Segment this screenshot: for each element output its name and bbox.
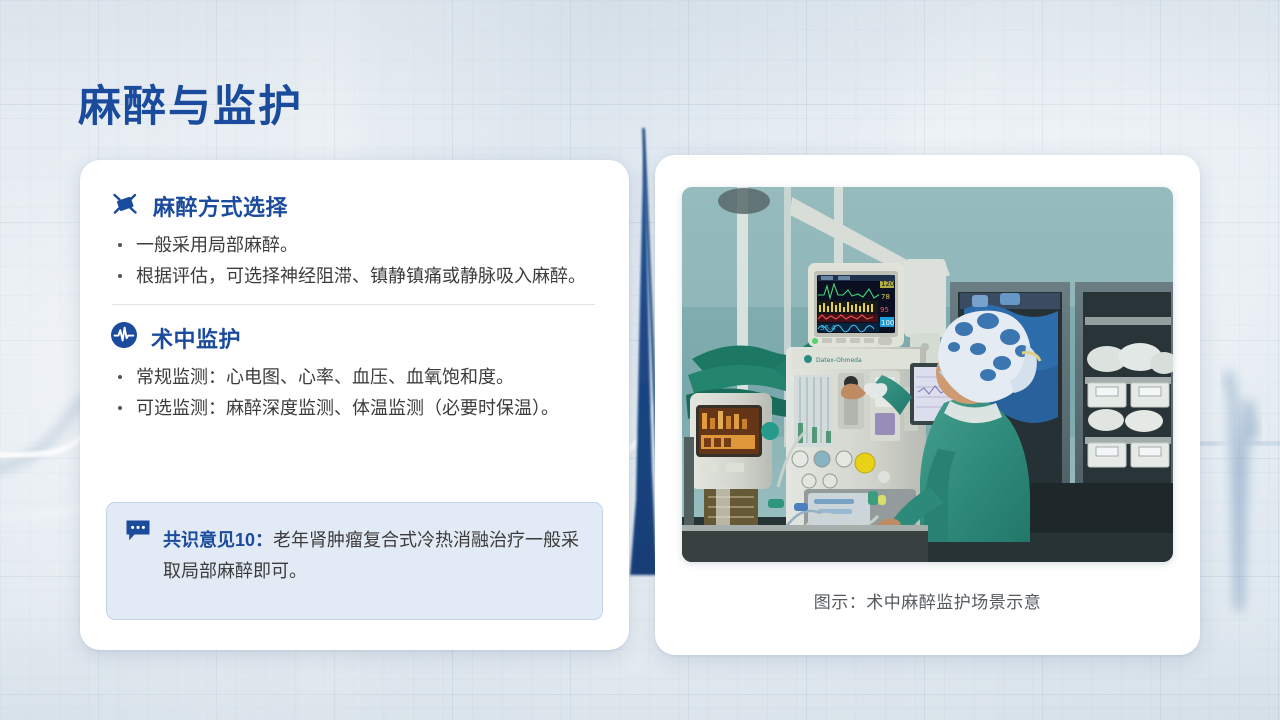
list-item: 一般采用局部麻醉。 xyxy=(114,230,597,260)
section-header: 麻醉方式选择 xyxy=(110,190,597,222)
callout-text: 共识意见10：老年肾肿瘤复合式冷热消融治疗一般采取局部麻醉即可。 xyxy=(163,525,584,587)
list-item: 可选监测：麻醉深度监测、体温监测（必要时保温）。 xyxy=(114,393,597,423)
image-caption: 图示：术中麻醉监护场景示意 xyxy=(655,588,1200,613)
list-item: 常规监测：心电图、心率、血压、血氧饱和度。 xyxy=(114,362,597,392)
section-anesthesia-method: 麻醉方式选择 一般采用局部麻醉。 根据评估，可选择神经阻滞、镇静镇痛或静脉吸入麻… xyxy=(110,190,597,291)
pulse-circle-icon xyxy=(110,321,138,354)
content-card-right: 120 78 95 100 36.4 xyxy=(655,155,1200,655)
page-title: 麻醉与监护 xyxy=(78,72,303,134)
section-intraoperative-monitoring: 术中监护 常规监测：心电图、心率、血压、血氧饱和度。 可选监测：麻醉深度监测、体… xyxy=(110,321,597,423)
pushpin-icon xyxy=(110,191,140,222)
operating-room-photo-frame: 120 78 95 100 36.4 xyxy=(682,187,1173,562)
section-header: 术中监护 xyxy=(110,321,597,354)
comment-bubble-icon xyxy=(125,519,151,587)
section-divider xyxy=(112,304,595,305)
section-heading: 术中监护 xyxy=(151,322,241,354)
callout-label: 共识意见10： xyxy=(163,530,273,550)
consensus-callout-box: 共识意见10：老年肾肿瘤复合式冷热消融治疗一般采取局部麻醉即可。 xyxy=(106,502,603,620)
section-heading: 麻醉方式选择 xyxy=(153,190,288,222)
list-item: 根据评估，可选择神经阻滞、镇静镇痛或静脉吸入麻醉。 xyxy=(114,261,597,291)
operating-room-anesthesia-monitoring-photo: 120 78 95 100 36.4 xyxy=(682,187,1173,562)
bullet-list: 一般采用局部麻醉。 根据评估，可选择神经阻滞、镇静镇痛或静脉吸入麻醉。 xyxy=(114,230,597,291)
bullet-list: 常规监测：心电图、心率、血压、血氧饱和度。 可选监测：麻醉深度监测、体温监测（必… xyxy=(114,362,597,423)
